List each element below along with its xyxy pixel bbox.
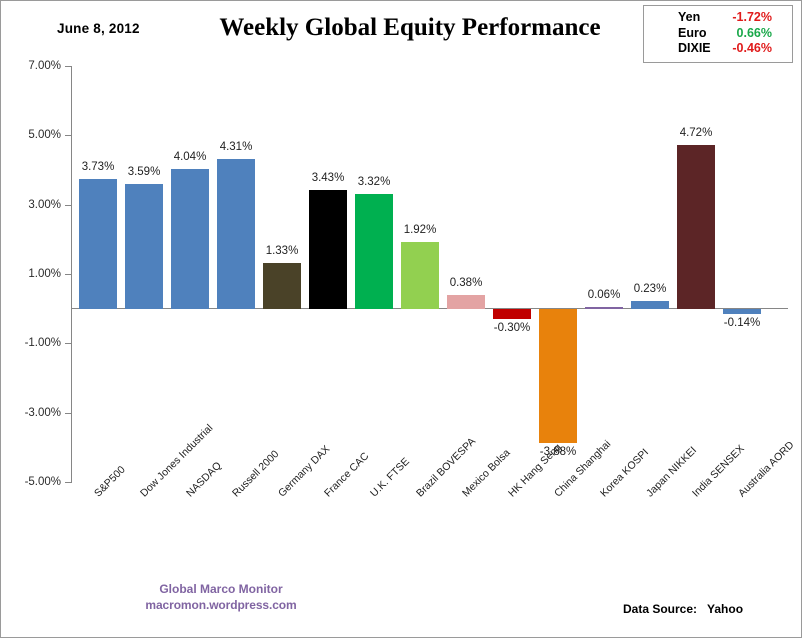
bar-value-label: 0.23% xyxy=(613,283,687,295)
bar-value-label: -0.14% xyxy=(705,317,779,329)
bar-value-label: 1.92% xyxy=(383,224,457,236)
bar xyxy=(309,190,347,309)
data-source-label: Data Source: xyxy=(623,602,697,616)
currency-name: DIXIE xyxy=(650,41,716,57)
data-source-value: Yahoo xyxy=(697,602,743,616)
bar xyxy=(217,159,255,308)
y-axis-tick-label: -3.00% xyxy=(1,407,61,419)
bar xyxy=(401,242,439,309)
bar xyxy=(677,145,715,309)
chart-canvas: June 8, 2012 Weekly Global Equity Perfor… xyxy=(0,0,802,638)
y-axis-tick-label: 5.00% xyxy=(1,129,61,141)
y-axis-tick-mark xyxy=(65,66,71,67)
bar xyxy=(79,179,117,308)
currency-row-euro: Euro0.66% xyxy=(650,26,786,42)
bar xyxy=(171,169,209,309)
watermark-line-2: macromon.wordpress.com xyxy=(121,597,321,613)
bar xyxy=(125,184,163,308)
data-source: Data Source:Yahoo xyxy=(623,602,743,616)
bar-value-label: 3.59% xyxy=(107,166,181,178)
currency-change-value: -1.72% xyxy=(716,10,772,26)
y-axis-tick-mark xyxy=(65,413,71,414)
bar xyxy=(447,295,485,308)
bar-value-label: 4.31% xyxy=(199,141,273,153)
y-axis-tick-label: -1.00% xyxy=(1,337,61,349)
bar xyxy=(493,309,531,319)
y-axis-tick-label: 3.00% xyxy=(1,199,61,211)
bar-value-label: 1.33% xyxy=(245,245,319,257)
bar xyxy=(585,307,623,309)
currency-summary-box: Yen-1.72%Euro0.66%DIXIE-0.46% xyxy=(643,5,793,63)
currency-name: Yen xyxy=(650,10,716,26)
y-axis-tick-label: -5.00% xyxy=(1,476,61,488)
y-axis-tick-mark xyxy=(65,135,71,136)
y-axis-tick-mark xyxy=(65,343,71,344)
y-axis-tick-mark xyxy=(65,274,71,275)
bar xyxy=(723,309,761,314)
currency-change-value: -0.46% xyxy=(716,41,772,57)
bar-value-label: -0.30% xyxy=(475,322,549,334)
bar-value-label: 0.38% xyxy=(429,277,503,289)
y-axis-tick-label: 1.00% xyxy=(1,268,61,280)
currency-row-yen: Yen-1.72% xyxy=(650,10,786,26)
currency-row-dixie: DIXIE-0.46% xyxy=(650,41,786,57)
currency-name: Euro xyxy=(650,26,716,42)
y-axis-tick-mark xyxy=(65,482,71,483)
watermark-line-1: Global Marco Monitor xyxy=(121,581,321,597)
y-axis-tick-mark xyxy=(65,205,71,206)
currency-change-value: 0.66% xyxy=(716,26,772,42)
bar xyxy=(539,309,577,444)
y-axis-tick-label: 7.00% xyxy=(1,60,61,72)
bar xyxy=(263,263,301,309)
bar-value-label: 4.72% xyxy=(659,127,733,139)
bar xyxy=(355,194,393,309)
bar-value-label: 3.32% xyxy=(337,176,411,188)
plot-area: 3.73%3.59%4.04%4.31%1.33%3.43%3.32%1.92%… xyxy=(71,66,787,482)
bar xyxy=(631,301,669,309)
watermark: Global Marco Monitor macromon.wordpress.… xyxy=(121,581,321,613)
